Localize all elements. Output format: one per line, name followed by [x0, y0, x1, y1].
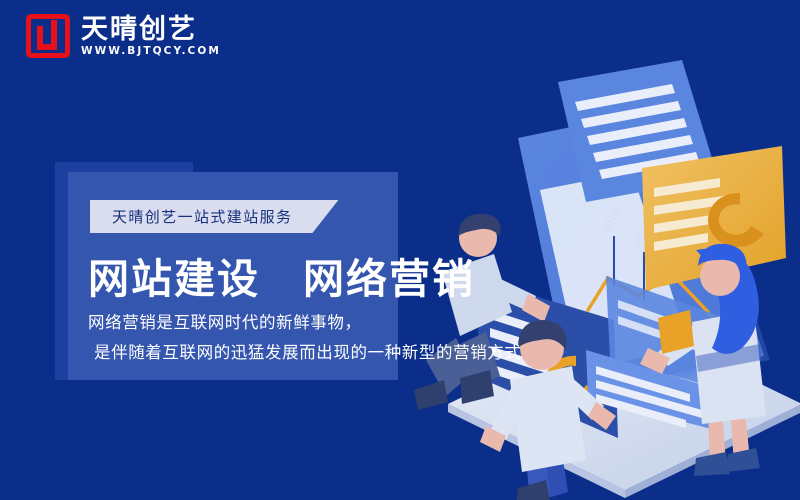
banner-canvas: 天晴创艺 WWW.BJTQCY.COM 天晴创艺一站式建站服务 网站建设 网络营…: [0, 0, 800, 500]
hero-headline: 网站建设 网络营销: [88, 245, 475, 305]
hero-subcopy-line-1: 网络营销是互联网时代的新鲜事物，: [88, 308, 522, 338]
hero-subcopy-line-2: 是伴随着互联网的迅猛发展而出现的一种新型的营销方式: [88, 338, 522, 368]
brand-name: 天晴创艺: [81, 16, 221, 43]
brand-url: WWW.BJTQCY.COM: [81, 46, 221, 57]
tqcy-bracket-logo-icon: [26, 14, 70, 58]
hero-tagline-banner: 天晴创艺一站式建站服务: [90, 200, 338, 233]
hero-subcopy: 网络营销是互联网时代的新鲜事物， 是伴随着互联网的迅猛发展而出现的一种新型的营销…: [88, 308, 522, 368]
hero-tagline-text: 天晴创艺一站式建站服务: [112, 206, 292, 227]
brand-logo[interactable]: 天晴创艺 WWW.BJTQCY.COM: [26, 14, 221, 58]
